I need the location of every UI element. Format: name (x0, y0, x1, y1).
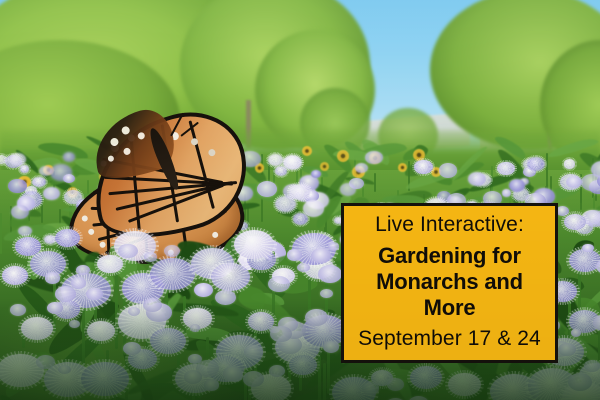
panel-title-line-3: More (424, 296, 476, 320)
panel-title-line-1: Gardening for (378, 244, 521, 268)
panel-kicker: Live Interactive: (375, 214, 524, 237)
panel-date: September 17 & 24 (358, 328, 541, 351)
event-panel: Live Interactive: Gardening for Monarchs… (341, 203, 558, 363)
promo-image: Live Interactive: Gardening for Monarchs… (0, 0, 600, 400)
panel-title-line-2: Monarchs and (376, 270, 523, 294)
